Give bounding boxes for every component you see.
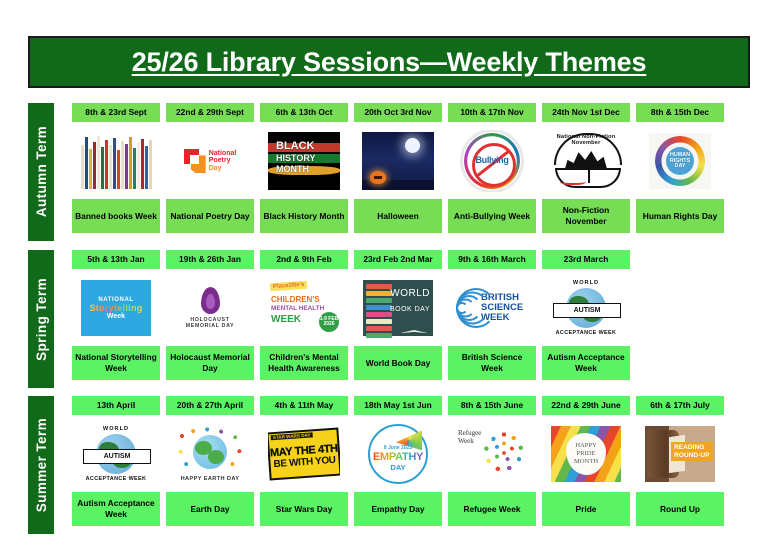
theme-artwork-british-science-week: BRITISH SCIENCE WEEK xyxy=(448,273,536,343)
hmd-line2: MEMORIAL DAY xyxy=(186,323,234,330)
human-rights-day-logo-icon: HUMAN RIGHTS DAY xyxy=(649,133,711,189)
ru-line2: ROUND-UP xyxy=(674,452,710,459)
empathy-day-logo-icon: 8 June 2023 EMPATHY DAY xyxy=(368,424,428,484)
pride-line1: HAPPY xyxy=(575,442,597,450)
aaw-bottom: ACCEPTANCE WEEK xyxy=(81,476,151,482)
british-science-week-logo-icon: BRITISH SCIENCE WEEK xyxy=(456,281,528,335)
theme-chip: Banned books Week xyxy=(72,199,160,233)
date-chip: 20th Oct 3rd Nov xyxy=(354,103,442,122)
term-label-spring: Spring Term xyxy=(28,250,54,388)
npd-line2: Poetry xyxy=(209,157,237,165)
theme-artwork-banned-books xyxy=(72,126,160,196)
aaw-bottom: ACCEPTANCE WEEK xyxy=(551,330,621,336)
theme-chip: Holocaust Memorial Day xyxy=(166,346,254,380)
theme-artwork-holocaust-memorial-day: HOLOCAUST MEMORIAL DAY xyxy=(166,273,254,343)
date-chip: 6th & 13th Oct xyxy=(260,103,348,122)
reading-round-up-icon: READING ROUND-UP xyxy=(645,426,715,482)
hrd-line3: DAY xyxy=(649,164,711,170)
date-chip: 9th & 16th March xyxy=(448,250,536,269)
npd-line1: National xyxy=(209,150,237,158)
pride-line3: MONTH xyxy=(574,458,598,466)
earth-day-caption: HAPPY EARTH DAY xyxy=(175,476,245,482)
theme-chip: Earth Day xyxy=(166,492,254,526)
star-wars-day-banner-icon: STAR WARS DAY MAY THE 4TH BE WITH YOU xyxy=(268,428,340,481)
national-poetry-day-logo-icon: National Poetry Day xyxy=(184,149,237,173)
theme-artwork-human-rights-day: HUMAN RIGHTS DAY xyxy=(636,126,724,196)
theme-chip: Autism Acceptance Week xyxy=(542,346,630,380)
empathy-line1: EMPATHY xyxy=(373,451,423,463)
theme-chip: Empathy Day xyxy=(354,492,442,526)
theme-column-autism-acceptance-week-spring[interactable]: 23rd March WORLD AUTISM ACCEPTANCE WEEK … xyxy=(542,250,630,380)
aaw-top: WORLD xyxy=(81,426,151,432)
theme-chip: National Storytelling Week xyxy=(72,346,160,380)
date-chip: 22nd & 29th Sept xyxy=(166,103,254,122)
theme-column-childrens-mental-health-week[interactable]: 2nd & 9th Feb Place2Be's CHILDREN'S MENT… xyxy=(260,250,348,380)
national-storytelling-week-logo-icon: NATIONAL Storytelling Week xyxy=(81,280,151,336)
theme-column-autism-acceptance-week-summer[interactable]: 13th April WORLD AUTISM ACCEPTANCE WEEK … xyxy=(72,396,160,526)
theme-chip: Star Wars Day xyxy=(260,492,348,526)
theme-artwork-pride: HAPPY PRIDE MONTH xyxy=(542,419,630,489)
cmhw-tag: Place2Be's xyxy=(270,281,308,292)
theme-artwork-empathy-day: 8 June 2023 EMPATHY DAY xyxy=(354,419,442,489)
swd-tag: STAR WARS DAY xyxy=(271,433,313,441)
term-label-summer-text: Summer Term xyxy=(34,418,49,512)
theme-chip: Non-Fiction November xyxy=(542,199,630,233)
theme-column-refugee-week[interactable]: 8th & 15th June Refugee Week Refugee Wee… xyxy=(448,396,536,526)
theme-column-halloween[interactable]: 20th Oct 3rd Nov Halloween xyxy=(354,103,442,233)
refugee-week-logo-icon: Refugee Week xyxy=(457,427,527,481)
wbd-line1: WORLD xyxy=(390,288,430,299)
date-chip: 8th & 23rd Sept xyxy=(72,103,160,122)
date-chip: 24th Nov 1st Dec xyxy=(542,103,630,122)
date-chip: 5th & 13th Jan xyxy=(72,250,160,269)
date-chip: 8th & 15th June xyxy=(448,396,536,415)
date-chip: 4th & 11th May xyxy=(260,396,348,415)
theme-chip: Pride xyxy=(542,492,630,526)
theme-column-black-history-month[interactable]: 6th & 13th Oct BLACK HISTORY MONTH Black… xyxy=(260,103,348,233)
term-label-autumn-text: Autumn Term xyxy=(34,126,49,217)
theme-column-anti-bullying[interactable]: 10th & 17th Nov Bullying Anti-Bullying W… xyxy=(448,103,536,233)
theme-artwork-autism-acceptance-week: WORLD AUTISM ACCEPTANCE WEEK xyxy=(72,419,160,489)
cmhw-line1: CHILDREN'S xyxy=(271,295,320,304)
theme-artwork-halloween xyxy=(354,126,442,196)
theme-column-british-science-week[interactable]: 9th & 16th March BRITISH SCIENCE WEEK xyxy=(448,250,536,380)
theme-column-national-poetry-day[interactable]: 22nd & 29th Sept National Poetry Day Nat… xyxy=(166,103,254,233)
date-chip: 20th & 27th April xyxy=(166,396,254,415)
theme-artwork-national-storytelling-week: NATIONAL Storytelling Week xyxy=(72,273,160,343)
theme-chip: Halloween xyxy=(354,199,442,233)
wbd-line2: BOOK DAY xyxy=(390,306,430,313)
aaw-middle: AUTISM xyxy=(553,303,621,318)
npd-line3: Day xyxy=(209,165,237,173)
term-label-autumn: Autumn Term xyxy=(28,103,54,241)
ru-line1: READING xyxy=(674,444,710,451)
date-chip: 8th & 15th Dec xyxy=(636,103,724,122)
nfn-arc-text: National Non-Fiction November xyxy=(552,134,620,146)
autism-acceptance-week-logo-icon: WORLD AUTISM ACCEPTANCE WEEK xyxy=(81,426,151,482)
date-chip: 23rd March xyxy=(542,250,630,269)
theme-chip: Black History Month xyxy=(260,199,348,233)
autism-acceptance-week-logo-icon: WORLD AUTISM ACCEPTANCE WEEK xyxy=(551,280,621,336)
theme-artwork-autism-acceptance-week: WORLD AUTISM ACCEPTANCE WEEK xyxy=(542,273,630,343)
term-label-summer: Summer Term xyxy=(28,396,54,534)
non-fiction-november-logo-icon: National Non-Fiction November ✦ xyxy=(552,132,620,190)
cmhw-line3: WEEK xyxy=(271,314,301,325)
cmhw-line2: MENTAL HEALTH xyxy=(271,305,324,312)
date-chip: 2nd & 9th Feb xyxy=(260,250,348,269)
swd-line2: BE WITH YOU xyxy=(273,455,336,470)
theme-column-non-fiction-november[interactable]: 24th Nov 1st Dec National Non-Fiction No… xyxy=(542,103,630,233)
theme-column-empathy-day[interactable]: 18th May 1st Jun 8 June 2023 EMPATHY DAY… xyxy=(354,396,442,526)
cmhw-date-badge: 1-9 FEB 2026 xyxy=(319,312,339,332)
page-title: 25/26 Library Sessions—Weekly Themes xyxy=(132,47,647,78)
theme-chip: Human Rights Day xyxy=(636,199,724,233)
theme-chip: Refugee Week xyxy=(448,492,536,526)
theme-artwork-childrens-mental-health-week: Place2Be's CHILDREN'S MENTAL HEALTH WEEK… xyxy=(260,273,348,343)
anti-bullying-roundel-icon: Bullying xyxy=(460,130,524,192)
theme-chip: Autism Acceptance Week xyxy=(72,492,160,526)
theme-column-round-up[interactable]: 6th & 17th July READING ROUND-UP Round U… xyxy=(636,396,724,526)
date-chip: 18th May 1st Jun xyxy=(354,396,442,415)
theme-chip: Round Up xyxy=(636,492,724,526)
theme-chip: Children's Mental Health Awareness xyxy=(260,346,348,380)
date-chip: 19th & 26th Jan xyxy=(166,250,254,269)
bhm-line2: HISTORY xyxy=(276,153,316,164)
empathy-line2: DAY xyxy=(390,463,405,472)
theme-artwork-star-wars-day: STAR WARS DAY MAY THE 4TH BE WITH YOU xyxy=(260,419,348,489)
nsw-line3: Week xyxy=(107,313,125,320)
holocaust-memorial-day-flame-icon: HOLOCAUST MEMORIAL DAY xyxy=(175,280,245,336)
rw-line2: Week xyxy=(458,438,481,445)
theme-column-human-rights-day[interactable]: 8th & 15th Dec HUMAN RIGHTS DAY Human Ri… xyxy=(636,103,724,233)
theme-chip: National Poetry Day xyxy=(166,199,254,233)
date-chip: 13th April xyxy=(72,396,160,415)
black-history-month-banner-icon: BLACK HISTORY MONTH xyxy=(268,132,340,190)
weekly-themes-poster: 25/26 Library Sessions—Weekly Themes Aut… xyxy=(0,0,779,551)
pride-line2: PRIDE xyxy=(576,450,595,458)
pride-rainbow-icon: HAPPY PRIDE MONTH xyxy=(551,426,621,482)
date-chip: 23rd Feb 2nd Mar xyxy=(354,250,442,269)
theme-artwork-round-up: READING ROUND-UP xyxy=(636,419,724,489)
theme-column-holocaust-memorial-day[interactable]: 19th & 26th Jan HOLOCAUST MEMORIAL DAY H… xyxy=(166,250,254,380)
world-book-day-logo-icon: WORLD BOOK DAY xyxy=(363,280,433,336)
theme-chip: British Science Week xyxy=(448,346,536,380)
theme-column-star-wars-day[interactable]: 4th & 11th May STAR WARS DAY MAY THE 4TH… xyxy=(260,396,348,526)
theme-artwork-earth-day: HAPPY EARTH DAY xyxy=(166,419,254,489)
theme-column-national-storytelling-week[interactable]: 5th & 13th Jan NATIONAL Storytelling Wee… xyxy=(72,250,160,380)
bhm-line1: BLACK xyxy=(276,140,316,153)
date-chip: 10th & 17th Nov xyxy=(448,103,536,122)
term-columns-summer: 13th April WORLD AUTISM ACCEPTANCE WEEK … xyxy=(72,396,724,526)
childrens-mental-health-week-logo-icon: Place2Be's CHILDREN'S MENTAL HEALTH WEEK… xyxy=(268,280,340,336)
bhm-line3: MONTH xyxy=(276,164,316,175)
date-chip: 6th & 17th July xyxy=(636,396,724,415)
term-label-spring-text: Spring Term xyxy=(34,278,49,361)
theme-artwork-anti-bullying: Bullying xyxy=(448,126,536,196)
theme-column-banned-books[interactable]: 8th & 23rd Sept Banned xyxy=(72,103,160,233)
theme-chip: Anti-Bullying Week xyxy=(448,199,536,233)
theme-artwork-national-poetry-day: National Poetry Day xyxy=(166,126,254,196)
aaw-top: WORLD xyxy=(551,280,621,286)
book-spines-icon xyxy=(80,133,152,189)
theme-artwork-non-fiction-november: National Non-Fiction November ✦ xyxy=(542,126,630,196)
date-chip: 22nd & 29th June xyxy=(542,396,630,415)
halloween-night-scene-icon xyxy=(362,132,434,190)
term-columns-autumn: 8th & 23rd Sept Banned xyxy=(72,103,724,233)
theme-column-world-book-day[interactable]: 23rd Feb 2nd Mar WORLD BOOK DAY World Bo… xyxy=(354,250,442,380)
anti-bullying-word: Bullying xyxy=(475,155,508,165)
page-title-banner: 25/26 Library Sessions—Weekly Themes xyxy=(28,36,750,88)
theme-chip: World Book Day xyxy=(354,346,442,380)
theme-artwork-world-book-day: WORLD BOOK DAY xyxy=(354,273,442,343)
aaw-middle: AUTISM xyxy=(83,449,151,464)
earth-day-globe-icon: HAPPY EARTH DAY xyxy=(175,426,245,482)
theme-column-earth-day[interactable]: 20th & 27th April HAPPY EARTH DAY Earth … xyxy=(166,396,254,526)
hmd-line1: HOLOCAUST xyxy=(186,317,234,324)
term-columns-spring: 5th & 13th Jan NATIONAL Storytelling Wee… xyxy=(72,250,630,380)
theme-artwork-black-history-month: BLACK HISTORY MONTH xyxy=(260,126,348,196)
nsw-line2: Storytelling xyxy=(89,303,142,313)
theme-column-pride[interactable]: 22nd & 29th June HAPPY PRIDE MONTH Pride xyxy=(542,396,630,526)
theme-artwork-refugee-week: Refugee Week xyxy=(448,419,536,489)
